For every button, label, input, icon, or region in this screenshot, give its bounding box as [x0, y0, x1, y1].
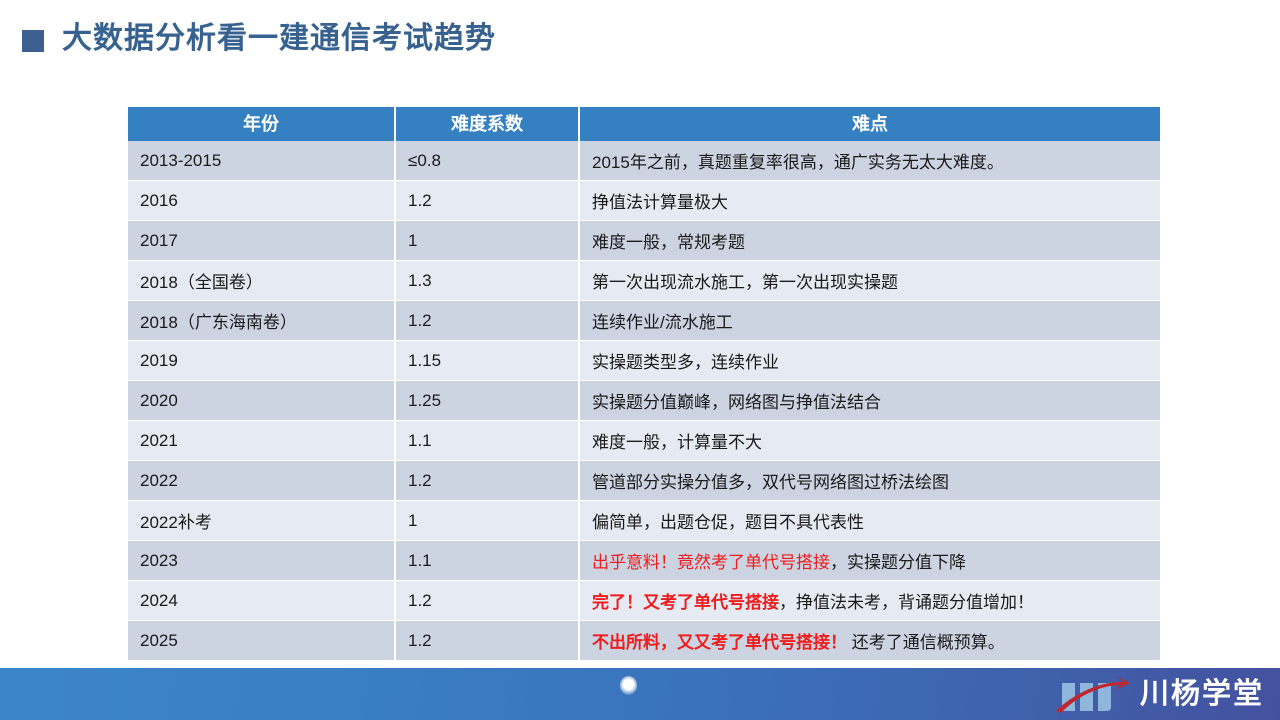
glow-dot-icon	[620, 676, 637, 695]
note-segment: 偏简单，出题仓促，题目不具代表性	[592, 513, 864, 532]
table-row: 2018（全国卷）1.3第一次出现流水施工，第一次出现实操题	[128, 261, 1160, 301]
cell-note: 第一次出现流水施工，第一次出现实操题	[579, 261, 1160, 301]
table-row: 20201.25实操题分值巅峰，网络图与挣值法结合	[128, 381, 1160, 421]
table-row: 20161.2挣值法计算量极大	[128, 181, 1160, 221]
cell-year: 2025	[128, 621, 395, 661]
note-segment: 不出所料，又又考了单代号搭接！	[592, 633, 847, 652]
table-row: 20251.2不出所料，又又考了单代号搭接！ 还考了通信概预算。	[128, 621, 1160, 661]
table-header-row: 年份 难度系数 难点	[128, 107, 1160, 141]
note-segment: 管道部分实操分值多，双代号网络图过桥法绘图	[592, 473, 949, 492]
cell-year: 2020	[128, 381, 395, 421]
cell-year: 2022补考	[128, 501, 395, 541]
note-segment: 挣值法计算量极大	[592, 193, 728, 212]
column-header-coefficient: 难度系数	[395, 107, 579, 141]
filled-square-bullet-icon	[22, 30, 44, 52]
note-segment: 连续作业/流水施工	[592, 313, 733, 332]
cell-coefficient: 1.2	[395, 461, 579, 501]
cell-year: 2018（全国卷）	[128, 261, 395, 301]
table-row: 2022补考1偏简单，出题仓促，题目不具代表性	[128, 501, 1160, 541]
cell-year: 2017	[128, 221, 395, 261]
note-segment: 完了！又考了单代号搭接	[592, 593, 779, 612]
slide-root: 大数据分析看一建通信考试趋势 年份 难度系数 难点 2013-2015≤0.82…	[0, 0, 1280, 720]
cell-coefficient: 1.25	[395, 381, 579, 421]
note-segment: 还考了通信概预算。	[847, 633, 1005, 652]
cell-coefficient: 1.2	[395, 581, 579, 621]
cell-year: 2021	[128, 421, 395, 461]
cell-coefficient: 1	[395, 501, 579, 541]
table-header: 年份 难度系数 难点	[128, 107, 1160, 141]
cell-year: 2024	[128, 581, 395, 621]
note-segment: 2015年之前，真题重复率很高，通广实务无太大难度。	[592, 153, 1004, 172]
footer-bar: 川杨学堂	[0, 668, 1280, 720]
note-segment: 难度一般，常规考题	[592, 233, 745, 252]
table-row: 20221.2管道部分实操分值多，双代号网络图过桥法绘图	[128, 461, 1160, 501]
brand-logo: 川杨学堂	[1054, 672, 1264, 716]
cell-coefficient: 1.2	[395, 621, 579, 661]
table-row: 20191.15实操题类型多，连续作业	[128, 341, 1160, 381]
note-segment: 出乎意料！竟然考了单代号搭接	[592, 553, 830, 572]
table-body: 2013-2015≤0.82015年之前，真题重复率很高，通广实务无太大难度。2…	[128, 141, 1160, 661]
cell-note: 2015年之前，真题重复率很高，通广实务无太大难度。	[579, 141, 1160, 181]
cell-year: 2013-2015	[128, 141, 395, 181]
table-row: 2018（广东海南卷）1.2连续作业/流水施工	[128, 301, 1160, 341]
cell-year: 2016	[128, 181, 395, 221]
difficulty-table: 年份 难度系数 难点 2013-2015≤0.82015年之前，真题重复率很高，…	[128, 107, 1160, 661]
note-segment: ，实操题分值下降	[830, 553, 966, 572]
cell-note: 出乎意料！竟然考了单代号搭接，实操题分值下降	[579, 541, 1160, 581]
page-title: 大数据分析看一建通信考试趋势	[0, 22, 1280, 55]
column-header-note: 难点	[579, 107, 1160, 141]
cell-note: 完了！又考了单代号搭接，挣值法未考，背诵题分值增加！	[579, 581, 1160, 621]
page-title-text: 大数据分析看一建通信考试趋势	[62, 22, 496, 55]
difficulty-table-container: 年份 难度系数 难点 2013-2015≤0.82015年之前，真题重复率很高，…	[128, 107, 1160, 661]
cell-coefficient: 1.1	[395, 421, 579, 461]
note-segment: 实操题类型多，连续作业	[592, 353, 779, 372]
cell-coefficient: ≤0.8	[395, 141, 579, 181]
cell-year: 2019	[128, 341, 395, 381]
cell-coefficient: 1.15	[395, 341, 579, 381]
note-segment: 实操题分值巅峰，网络图与挣值法结合	[592, 393, 881, 412]
cell-note: 偏简单，出题仓促，题目不具代表性	[579, 501, 1160, 541]
three-bars-with-red-swoosh-logo-icon	[1054, 673, 1132, 715]
cell-coefficient: 1.2	[395, 181, 579, 221]
cell-note: 难度一般，常规考题	[579, 221, 1160, 261]
table-row: 20211.1难度一般，计算量不大	[128, 421, 1160, 461]
cell-year: 2022	[128, 461, 395, 501]
table-row: 20241.2完了！又考了单代号搭接，挣值法未考，背诵题分值增加！	[128, 581, 1160, 621]
cell-coefficient: 1	[395, 221, 579, 261]
cell-note: 难度一般，计算量不大	[579, 421, 1160, 461]
cell-note: 管道部分实操分值多，双代号网络图过桥法绘图	[579, 461, 1160, 501]
table-row: 20171难度一般，常规考题	[128, 221, 1160, 261]
note-segment: 第一次出现流水施工，第一次出现实操题	[592, 273, 898, 292]
cell-coefficient: 1.3	[395, 261, 579, 301]
table-row: 2013-2015≤0.82015年之前，真题重复率很高，通广实务无太大难度。	[128, 141, 1160, 181]
cell-note: 实操题类型多，连续作业	[579, 341, 1160, 381]
table-row: 20231.1出乎意料！竟然考了单代号搭接，实操题分值下降	[128, 541, 1160, 581]
cell-note: 不出所料，又又考了单代号搭接！ 还考了通信概预算。	[579, 621, 1160, 661]
cell-note: 实操题分值巅峰，网络图与挣值法结合	[579, 381, 1160, 421]
cell-note: 连续作业/流水施工	[579, 301, 1160, 341]
column-header-year: 年份	[128, 107, 395, 141]
note-segment: 难度一般，计算量不大	[592, 433, 762, 452]
cell-coefficient: 1.2	[395, 301, 579, 341]
cell-coefficient: 1.1	[395, 541, 579, 581]
note-segment: ，挣值法未考，背诵题分值增加！	[779, 593, 1034, 612]
cell-year: 2018（广东海南卷）	[128, 301, 395, 341]
cell-year: 2023	[128, 541, 395, 581]
cell-note: 挣值法计算量极大	[579, 181, 1160, 221]
brand-logo-text: 川杨学堂	[1140, 673, 1264, 715]
